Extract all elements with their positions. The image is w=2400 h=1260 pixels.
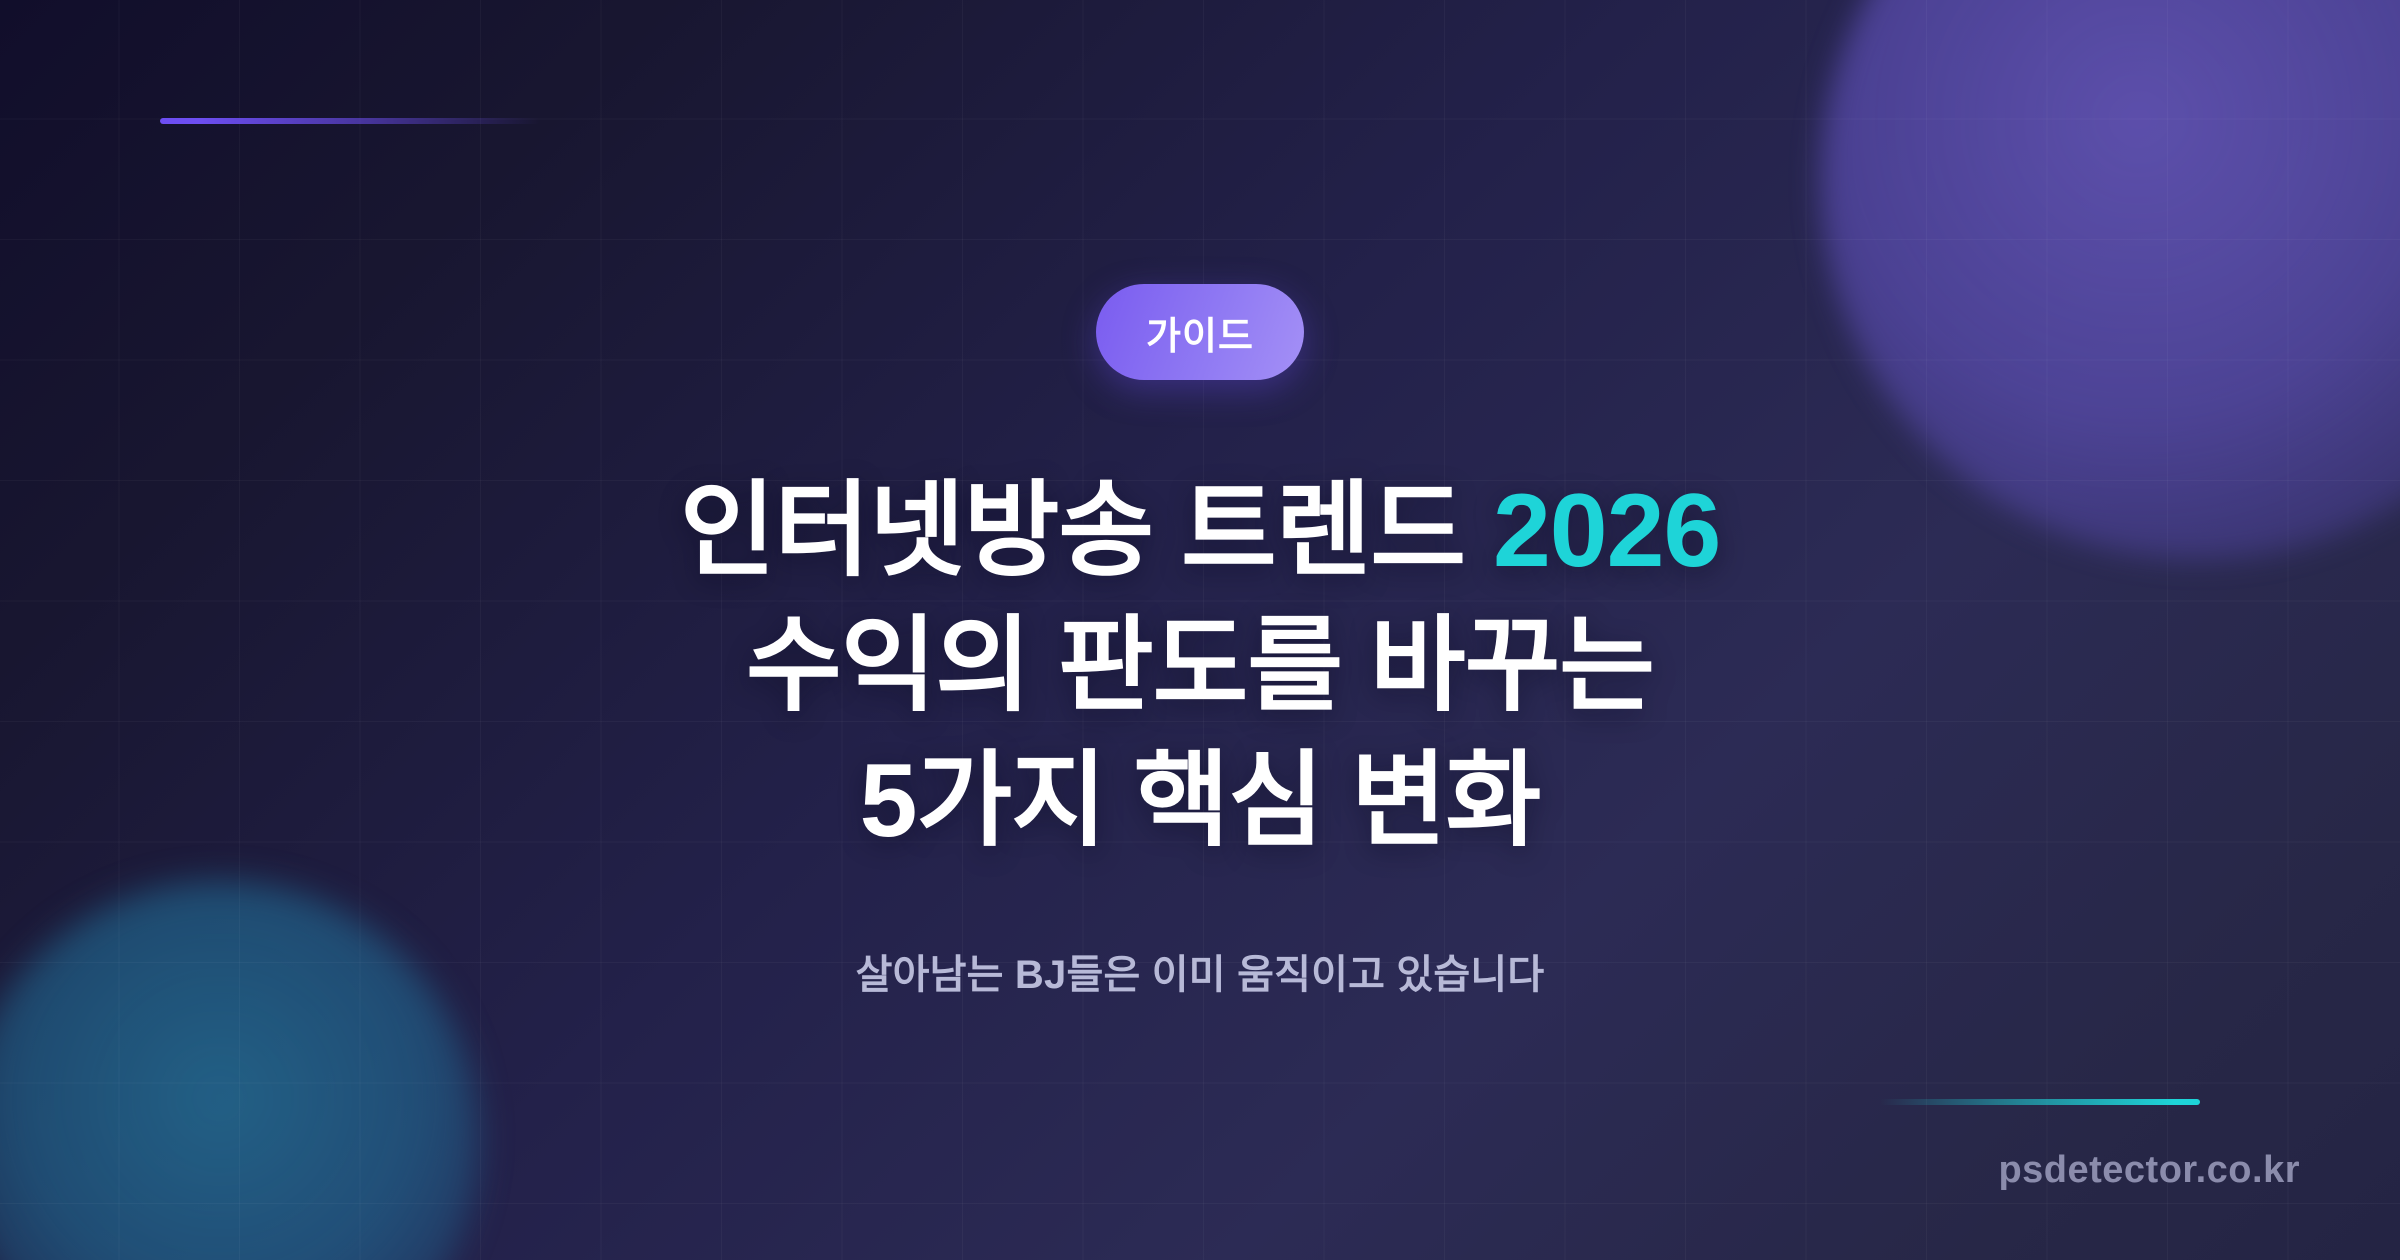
headline-line-1-main: 인터넷방송 트렌드 bbox=[680, 473, 1493, 589]
category-badge: 가이드 bbox=[1096, 284, 1304, 380]
page-title: 인터넷방송 트렌드 2026 수익의 판도를 바꾸는 5가지 핵심 변화 bbox=[680, 464, 1721, 870]
page-subtitle: 살아남는 BJ들은 이미 움직이고 있습니다 bbox=[856, 942, 1545, 1000]
headline-year-accent: 2026 bbox=[1493, 473, 1720, 589]
headline-line-2: 수익의 판도를 바꾸는 bbox=[680, 599, 1721, 734]
headline-line-1: 인터넷방송 트렌드 2026 bbox=[680, 464, 1721, 599]
headline-block: 인터넷방송 트렌드 2026 수익의 판도를 바꾸는 5가지 핵심 변화 bbox=[680, 464, 1721, 870]
promo-poster: 가이드 인터넷방송 트렌드 2026 수익의 판도를 바꾸는 5가지 핵심 변화… bbox=[0, 0, 2400, 1260]
headline-line-3: 5가지 핵심 변화 bbox=[680, 734, 1721, 869]
site-url-watermark: psdetector.co.kr bbox=[1998, 1149, 2300, 1192]
category-badge-label: 가이드 bbox=[1146, 305, 1254, 360]
poster-content: 가이드 인터넷방송 트렌드 2026 수익의 판도를 바꾸는 5가지 핵심 변화… bbox=[0, 0, 2400, 1260]
